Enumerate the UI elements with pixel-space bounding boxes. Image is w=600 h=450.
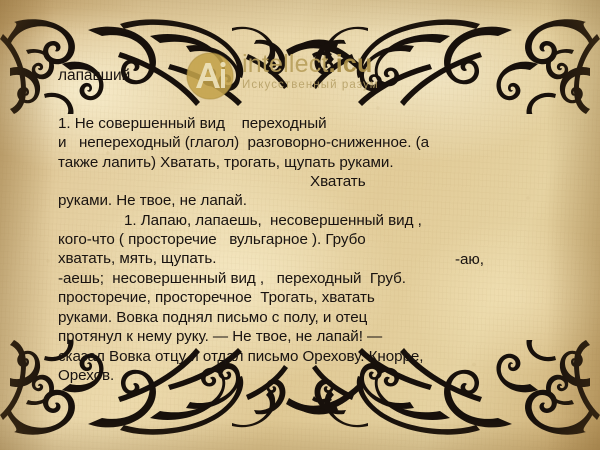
sense-1-continuation: руками. Не твое, не лапай. (58, 191, 558, 210)
ai-monogram-icon (186, 52, 234, 100)
sense-2-definition: кого-что ( просторечие вульгарное ). Гру… (58, 230, 558, 269)
watermark-brand: intellect.icu (242, 50, 442, 78)
dictionary-entry-content: лапавший 1. Не совершенный вид переходны… (0, 0, 600, 450)
paper-grain-texture (0, 0, 600, 450)
top-filigree-ornament (0, 6, 600, 114)
sense-3-definition-and-citation: -аешь; несовершенный вид , переходный Гр… (58, 269, 568, 385)
watermark-tagline: Искусственный разум (242, 78, 442, 92)
edge-vignette (0, 0, 600, 450)
watermark-brand-name: intellect (242, 50, 329, 78)
watermark: intellect.icu Искусственный разум (186, 52, 436, 102)
indented-fragment-hvatat: Хватать (310, 172, 366, 191)
parchment-card: intellect.icu Искусственный разум лапавш… (0, 0, 600, 450)
indented-fragment-ayu: -аю, (455, 250, 484, 269)
bottom-filigree-ornament (0, 340, 600, 448)
watermark-brand-tld: .icu (329, 50, 373, 78)
sense-2-headline: 1. Лапаю, лапаешь, несовершенный вид , (124, 211, 564, 230)
headword: лапавший (58, 66, 130, 85)
sense-1-definition: 1. Не совершенный вид переходный и непер… (58, 114, 558, 172)
watermark-text-block: intellect.icu Искусственный разум (242, 50, 442, 92)
